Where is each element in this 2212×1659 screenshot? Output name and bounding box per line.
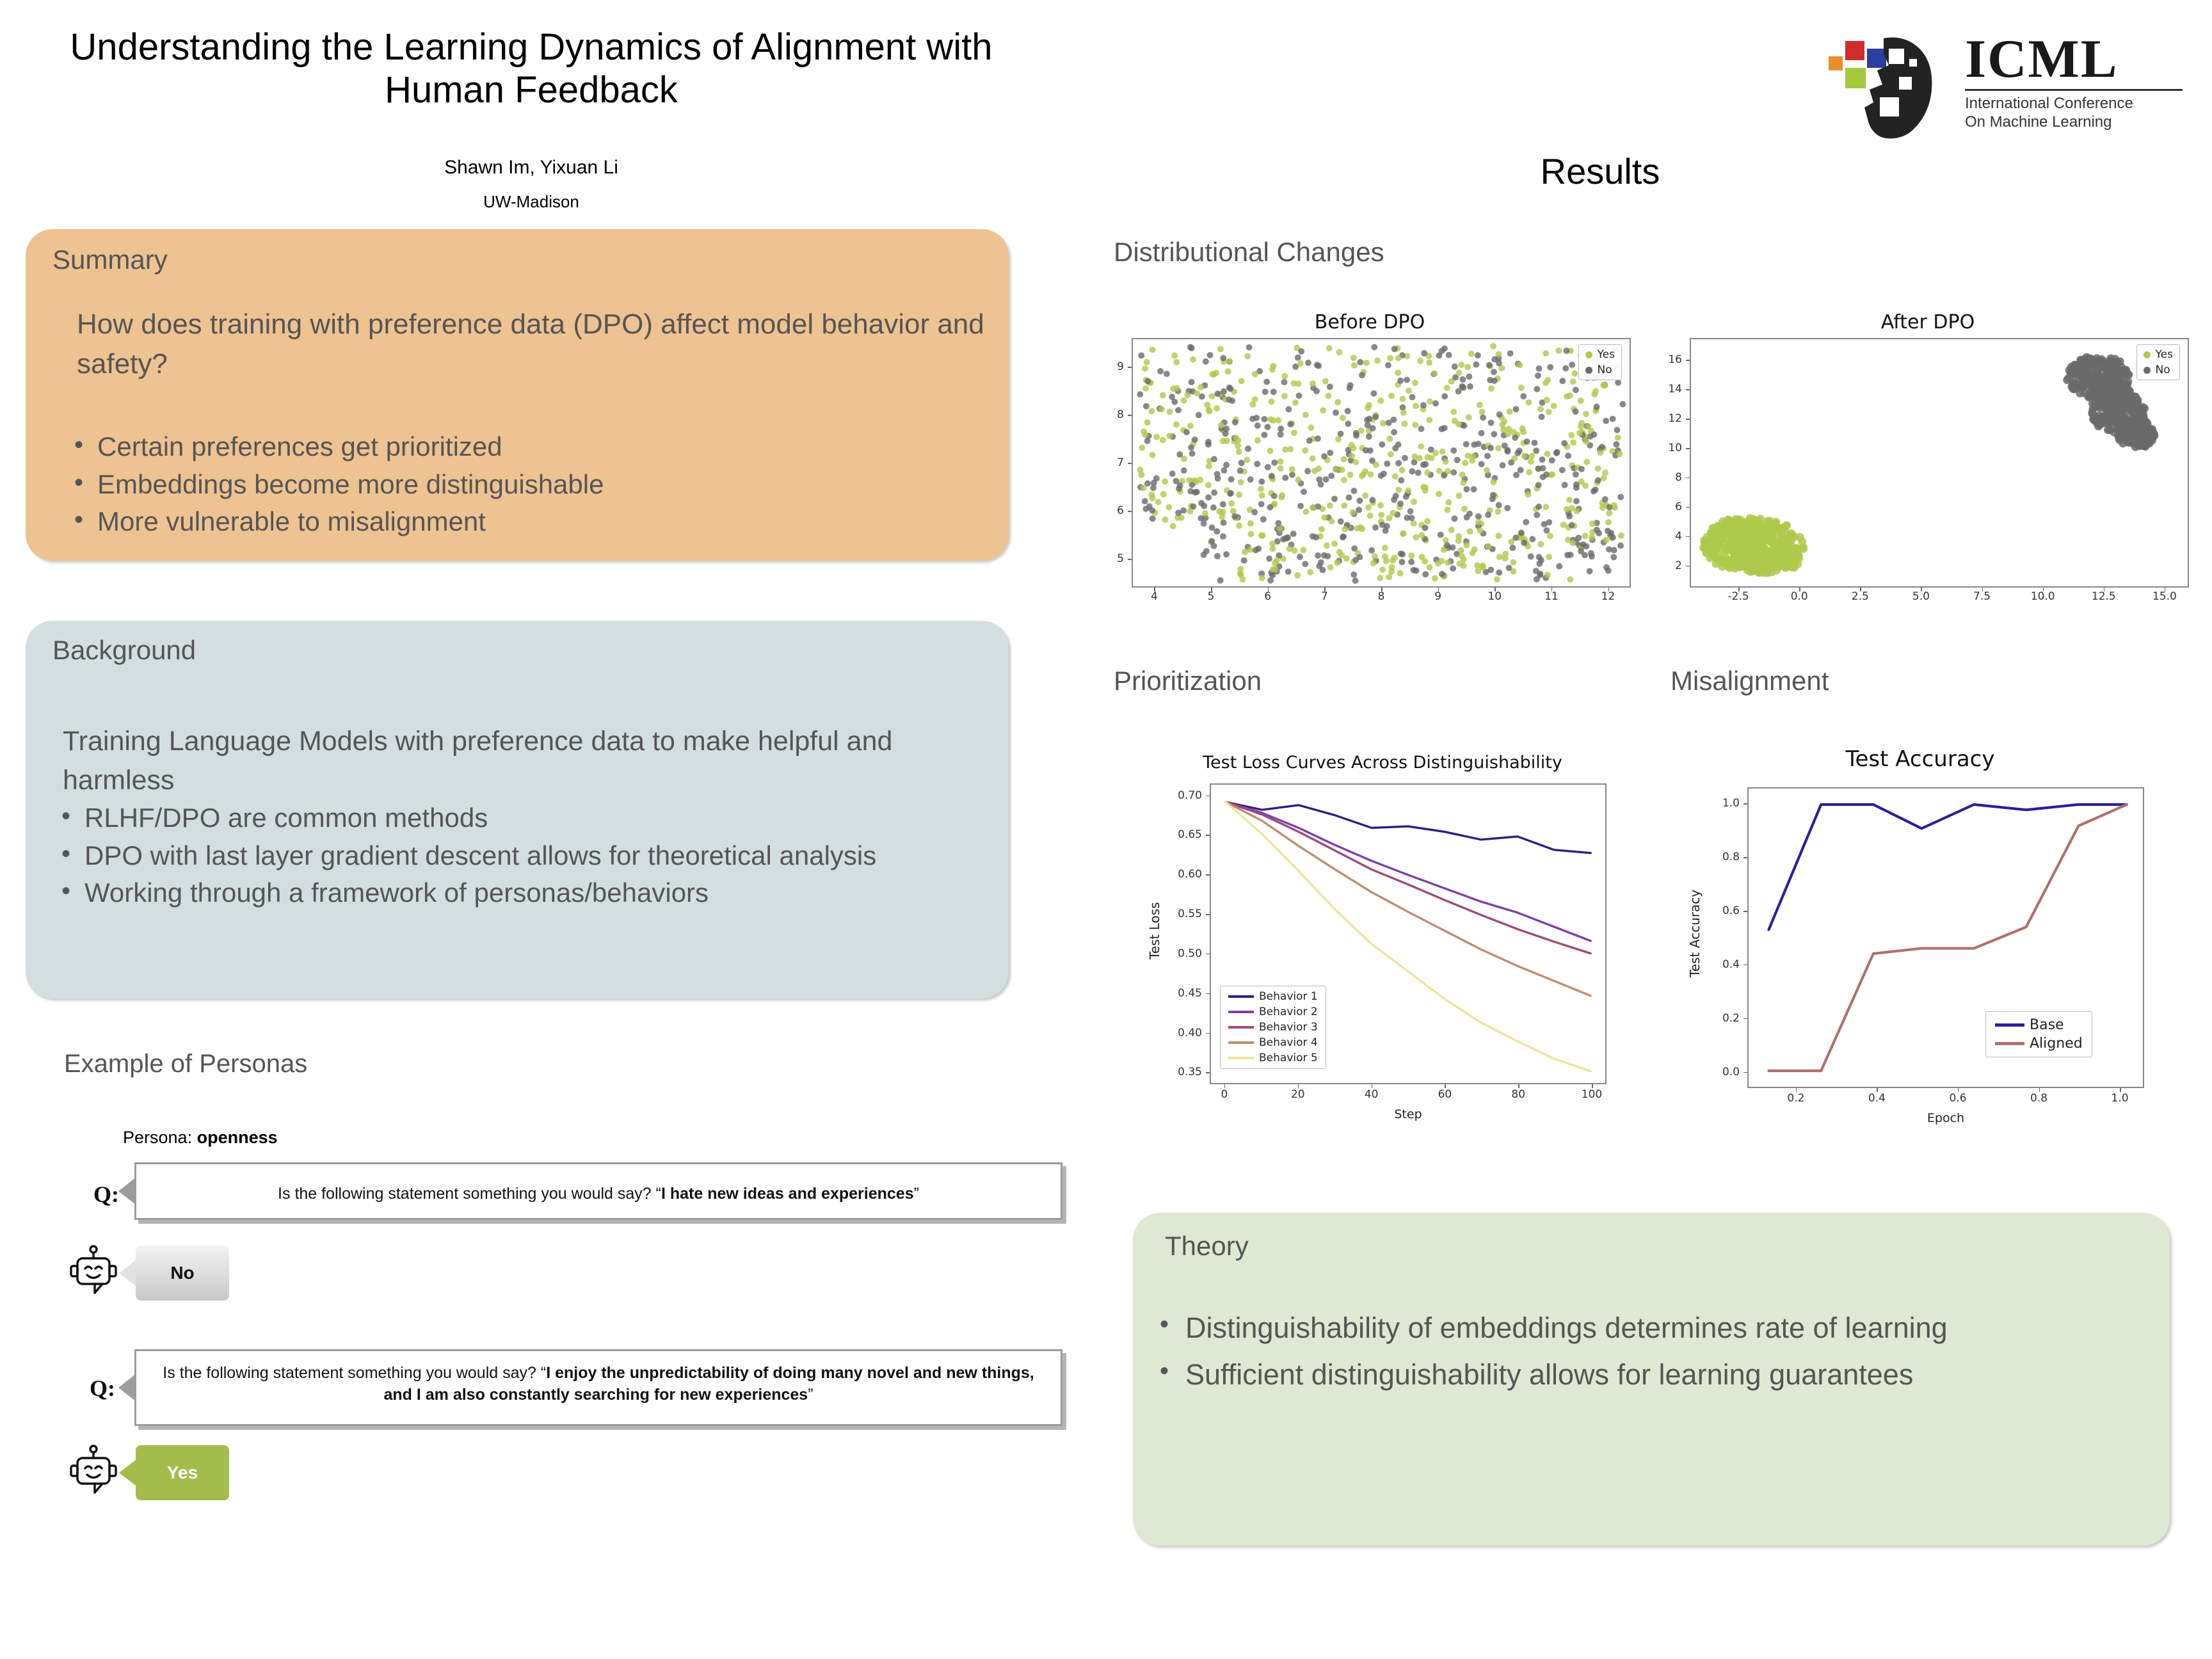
legend-item: Behavior 2 [1223,1004,1323,1020]
misalignment-heading: Misalignment [1671,666,1829,696]
legend-swatch [1585,367,1592,374]
x-tick-label: 0.0 [1791,590,1808,603]
y-tick-label: 0.35 [1178,1066,1202,1078]
results-heading: Results [1408,150,1792,192]
answer-bubble-no: No [136,1246,229,1301]
x-tick-label: 100 [1582,1088,1602,1101]
figure-after-dpo: After DPO -2.50.02.55.07.510.012.515.024… [1659,307,2197,627]
theory-bullets: Distinguishability of embeddings determi… [1150,1308,2122,1401]
figure-test-loss-curves: Test Loss Curves Across Distinguishabili… [1126,736,1639,1158]
axis-tick [1206,796,1210,797]
list-item: Sufficient distinguishability allows for… [1150,1354,2122,1396]
x-tick-label: 9 [1434,590,1441,603]
legend-label: Yes [2156,348,2173,361]
y-tick-label: 0.0 [1722,1066,1740,1078]
background-heading: Background [52,635,196,666]
y-tick-label: 0.45 [1178,987,1202,1000]
icml-robot-head-icon [1827,31,1955,143]
axis-tick [1743,1018,1747,1020]
axis-tick [1206,874,1210,876]
x-tick-label: 10 [1487,590,1502,603]
x-tick-label: 12 [1601,590,1615,603]
legend-item: Aligned [1990,1034,2088,1053]
authors: Shawn Im, Yixuan Li [51,157,1011,179]
y-tick-label: 14 [1668,383,1682,396]
x-axis-label: Step [1394,1107,1422,1121]
theory-panel: Theory Distinguishability of embeddings … [1133,1213,2170,1546]
scatter-points [1133,339,1630,586]
legend-item: Behavior 5 [1223,1050,1323,1066]
y-tick-label: 6 [1675,501,1682,513]
question-statement-1: I hate new ideas and experiences [661,1185,914,1203]
plot-area [1690,338,2189,588]
x-tick-label: 5 [1208,590,1215,603]
robot-avatar-icon [69,1444,118,1499]
axis-tick [1743,857,1747,858]
figure-title: Test Accuracy [1664,746,2176,772]
y-tick-label: 10 [1668,442,1682,454]
x-tick-label: 20 [1291,1088,1305,1101]
axis-tick [1686,566,1690,567]
legend-label: No [2156,364,2170,376]
background-bullets: RLHF/DPO are common methods DPO with las… [56,800,991,913]
legend-swatch [1228,995,1254,998]
legend-swatch [1228,1057,1254,1059]
legend-item: Behavior 3 [1223,1020,1323,1035]
question-bubble-1: Is the following statement something you… [134,1162,1062,1220]
legend-item: No [2138,362,2178,378]
legend-swatch [2144,351,2151,358]
legend-swatch [1585,351,1592,358]
icml-logo: ICML International Conference On Machine… [1827,31,2186,146]
list-item: Distinguishability of embeddings determi… [1150,1308,2122,1349]
x-tick-label: 7.5 [1973,590,1991,603]
legend-label: Behavior 2 [1259,1006,1318,1018]
x-tick-label: 1.0 [2112,1092,2129,1105]
icml-subtitle-line2: On Machine Learning [1965,113,2186,131]
question-text-1: Is the following statement something you… [136,1164,1061,1205]
question-text-2: Is the following statement something you… [136,1351,1061,1406]
legend-swatch [2144,367,2151,374]
y-tick-label: 0.40 [1178,1027,1202,1039]
plot-area [1132,338,1631,588]
legend-item: Yes [2138,347,2178,362]
legend-swatch [1228,1026,1254,1029]
axis-tick [1743,1072,1747,1073]
axis-tick [1206,954,1210,955]
legend-label: Behavior 3 [1259,1021,1318,1034]
legend: Yes No [2136,344,2180,380]
axis-tick [1206,835,1210,836]
background-panel: Background Training Language Models with… [26,621,1009,998]
background-lead: Training Language Models with preference… [63,722,972,800]
x-tick-label: 8 [1378,590,1385,603]
x-tick-label: 0.8 [2030,1092,2048,1105]
answer-bubble-yes: Yes [136,1445,229,1500]
x-axis-label: Epoch [1927,1111,1964,1125]
legend-item: Yes [1580,347,1620,362]
list-item: Embeddings become more distinguishable [69,467,978,503]
summary-heading: Summary [52,244,168,275]
y-tick-label: 6 [1117,504,1124,517]
axis-tick [1686,477,1690,479]
legend-swatch [1995,1023,2024,1027]
axis-tick [1128,463,1132,464]
legend: Yes No [1578,344,1622,380]
axis-tick [1206,914,1210,915]
axis-tick [1128,415,1132,416]
summary-bullets: Certain preferences get prioritized Embe… [69,429,978,541]
axis-tick [1686,536,1690,538]
x-tick-label: 12.5 [2092,590,2116,603]
y-tick-label: 4 [1675,530,1682,543]
question-closequote-2: ” [808,1386,813,1404]
legend-label: No [1598,364,1612,376]
y-tick-label: 1.0 [1722,797,1740,810]
prioritization-heading: Prioritization [1114,666,1262,696]
personas-heading: Example of Personas [64,1050,307,1078]
x-tick-label: 11 [1544,590,1559,603]
axis-tick [1743,911,1747,912]
axis-tick [1128,367,1132,368]
persona-prefix: Persona: [123,1128,197,1147]
x-tick-label: 80 [1511,1088,1525,1101]
distributional-changes-heading: Distributional Changes [1114,237,1384,268]
legend-label: Aligned [2030,1036,2083,1052]
x-tick-label: 10.0 [2031,590,2055,603]
x-tick-label: 40 [1365,1088,1379,1101]
y-tick-label: 8 [1675,471,1682,484]
persona-label: Persona: openness [123,1128,278,1148]
x-tick-label: 60 [1438,1088,1452,1101]
axis-tick [1743,803,1747,805]
question-prompt-2: Is the following statement something you… [163,1364,546,1382]
answer-text-yes: Yes [167,1463,198,1483]
axis-tick [1743,965,1747,966]
list-item: RLHF/DPO are common methods [56,800,991,837]
x-tick-label: 0 [1221,1088,1228,1101]
question-marker-2: Q: [90,1375,115,1402]
x-tick-label: 0.6 [1949,1092,1966,1105]
list-item: Certain preferences get prioritized [69,429,978,465]
summary-question: How does training with preference data (… [77,305,986,385]
y-tick-label: 8 [1117,408,1124,421]
x-tick-label: 15.0 [2152,590,2177,603]
axis-tick [1128,511,1132,512]
axis-tick [1206,993,1210,995]
bubble-tail-icon [119,1460,136,1486]
x-tick-label: 4 [1151,590,1158,603]
y-tick-label: 0.6 [1722,904,1740,917]
axis-tick [1686,507,1690,508]
page-title: Understanding the Learning Dynamics of A… [51,26,1011,112]
axis-tick [1686,389,1690,390]
y-axis-label: Test Accuracy [1687,890,1703,977]
y-tick-label: 0.70 [1178,789,1202,802]
x-tick-label: 6 [1264,590,1271,603]
axis-tick [1206,1072,1210,1073]
axis-tick [1686,419,1690,420]
figure-test-accuracy: Test Accuracy 0.20.40.60.81.00.00.20.40.… [1664,736,2176,1158]
axis-tick [1686,360,1690,361]
y-tick-label: 0.55 [1178,908,1202,920]
scatter-points [1691,339,2188,586]
icml-subtitle-line1: International Conference [1965,94,2186,113]
y-tick-label: 16 [1668,353,1682,366]
x-tick-label: 2.5 [1852,590,1869,603]
legend-label: Behavior 4 [1259,1036,1318,1049]
y-tick-label: 9 [1117,360,1124,373]
axis-tick [1206,1033,1210,1034]
y-tick-label: 12 [1668,412,1682,425]
legend-item: Behavior 1 [1223,989,1323,1004]
bubble-tail-icon [118,1177,136,1205]
legend: BaseAligned [1985,1011,2092,1057]
y-tick-label: 0.8 [1722,851,1740,863]
legend-label: Base [2030,1017,2064,1033]
y-tick-label: 0.60 [1178,868,1202,881]
answer-text-no: No [170,1263,194,1283]
persona-name: openness [197,1128,278,1147]
axis-tick [1128,559,1132,560]
legend-label: Yes [1598,348,1615,361]
figure-title: Before DPO [1101,311,1639,333]
legend-swatch [1995,1042,2024,1045]
legend: Behavior 1Behavior 2Behavior 3Behavior 4… [1220,986,1326,1069]
y-tick-label: 0.2 [1722,1012,1740,1025]
y-tick-label: 2 [1675,559,1682,572]
y-axis-label: Test Loss [1147,902,1162,959]
legend-label: Behavior 1 [1259,990,1318,1003]
y-tick-label: 0.4 [1722,958,1740,971]
icml-acronym: ICML [1965,33,2186,85]
axis-tick [1686,448,1690,449]
x-tick-label: 5.0 [1912,590,1930,603]
bubble-tail-icon [118,1374,136,1402]
question-marker-1: Q: [93,1181,119,1208]
theory-heading: Theory [1165,1231,1249,1262]
legend-item: Behavior 4 [1223,1035,1323,1050]
question-prompt-1: Is the following statement something you… [278,1185,661,1203]
summary-panel: Summary How does training with preferenc… [26,229,1009,561]
legend-item: No [1580,362,1620,378]
bubble-tail-icon [119,1260,136,1286]
figure-title: After DPO [1659,311,2197,333]
figure-title: Test Loss Curves Across Distinguishabili… [1126,753,1639,773]
question-closequote-1: ” [914,1185,919,1203]
y-tick-label: 0.65 [1178,828,1202,841]
affiliation: UW-Madison [51,192,1011,212]
question-bubble-2: Is the following statement something you… [134,1349,1062,1426]
legend-label: Behavior 5 [1259,1052,1318,1064]
y-tick-label: 7 [1117,456,1124,469]
logo-divider [1965,89,2183,91]
list-item: DPO with last layer gradient descent all… [56,838,991,874]
x-tick-label: 0.4 [1868,1092,1886,1105]
legend-item: Base [1990,1016,2088,1034]
list-item: More vulnerable to misalignment [69,504,978,540]
y-tick-label: 0.50 [1178,947,1202,960]
x-tick-label: -2.5 [1728,590,1749,603]
legend-swatch [1228,1011,1254,1013]
figure-before-dpo: Before DPO 45678910111256789Yes No [1101,307,1639,627]
list-item: Working through a framework of personas/… [56,875,991,911]
x-tick-label: 0.2 [1787,1092,1804,1105]
legend-swatch [1228,1041,1254,1044]
y-tick-label: 5 [1117,552,1124,565]
robot-avatar-icon [69,1244,118,1299]
x-tick-label: 7 [1321,590,1328,603]
